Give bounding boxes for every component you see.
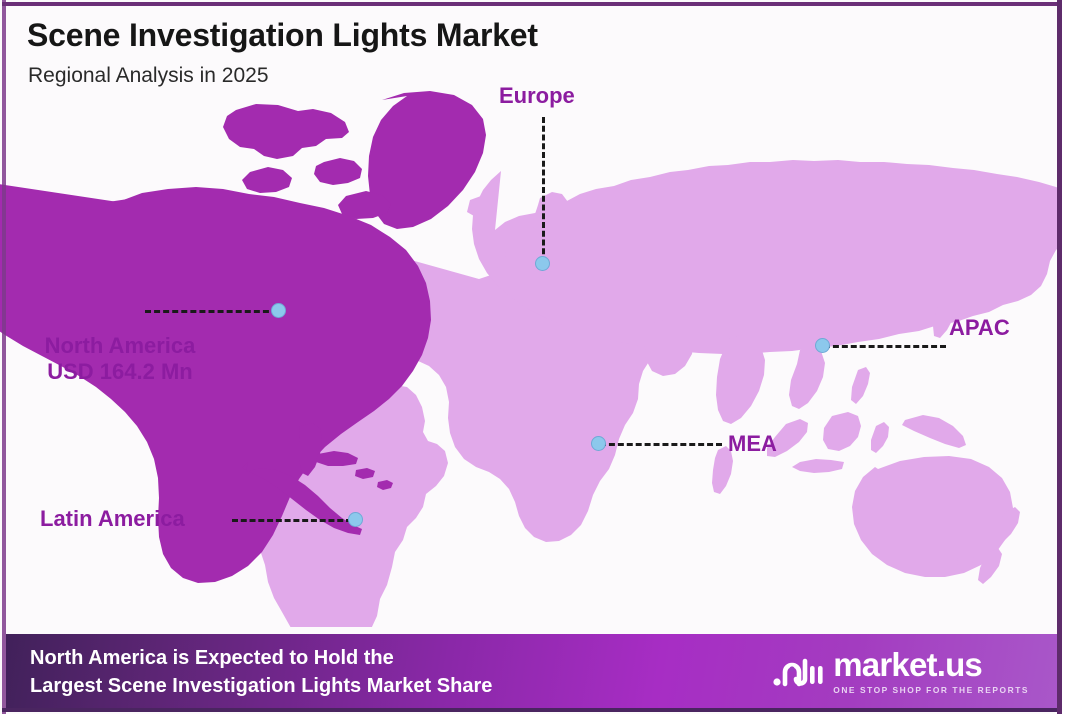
leader-line-latin-america — [232, 519, 352, 522]
region-label-apac: APAC — [949, 315, 1010, 341]
market-us-logo-text: market.us ONE STOP SHOP FOR THE REPORTS — [833, 648, 1029, 695]
region-label-north-america: North America USD 164.2 Mn — [20, 333, 220, 385]
map-region-philippines — [851, 367, 870, 404]
leader-line-north-america — [145, 310, 278, 313]
market-us-logo-mark — [772, 652, 824, 692]
frame-border-top — [2, 2, 1062, 6]
footer-headline-line1: North America is Expected to Hold the — [30, 644, 492, 672]
map-region-sulawesi — [871, 422, 889, 453]
infographic-root: Scene Investigation Lights Market Region… — [0, 0, 1070, 714]
footer-headline: North America is Expected to Hold the La… — [30, 644, 492, 701]
page-subtitle: Regional Analysis in 2025 — [28, 64, 269, 88]
region-value-north-america: USD 164.2 Mn — [20, 359, 220, 385]
region-label-latin-america: Latin America — [40, 506, 185, 532]
frame-border-bottom — [2, 708, 1062, 712]
map-region-arabia — [645, 319, 694, 376]
region-label-north-america-name: North America — [45, 333, 196, 358]
footer-banner: North America is Expected to Hold the La… — [6, 634, 1057, 708]
leader-line-europe — [542, 117, 545, 263]
leader-line-mea — [600, 443, 722, 446]
market-us-wordmark: market.us — [833, 648, 1029, 681]
page-title: Scene Investigation Lights Market — [27, 17, 538, 54]
footer-headline-line2: Largest Scene Investigation Lights Marke… — [30, 672, 492, 700]
map-region-borneo — [823, 412, 861, 451]
market-us-logo[interactable]: market.us ONE STOP SHOP FOR THE REPORTS — [772, 648, 1029, 695]
leader-line-apac — [824, 345, 946, 348]
map-region-java — [792, 459, 844, 473]
marker-dot-mea[interactable] — [591, 436, 606, 451]
frame-outer-margin-right — [1062, 0, 1070, 714]
marker-dot-apac[interactable] — [815, 338, 830, 353]
marker-dot-north-america[interactable] — [271, 303, 286, 318]
region-label-europe: Europe — [499, 83, 575, 109]
map-region-new-guinea — [902, 415, 966, 448]
frame-border-left — [2, 0, 6, 714]
market-us-tagline: ONE STOP SHOP FOR THE REPORTS — [833, 685, 1029, 695]
region-label-mea: MEA — [728, 431, 777, 457]
map-region-southeast-asia — [789, 346, 825, 409]
marker-dot-latin-america[interactable] — [348, 512, 363, 527]
marker-dot-europe[interactable] — [535, 256, 550, 271]
